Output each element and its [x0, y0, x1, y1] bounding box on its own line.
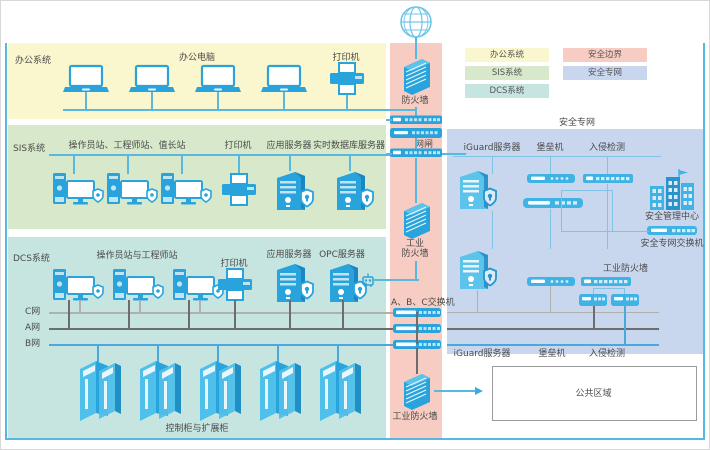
industrial-firewall-lower-icon: [400, 372, 434, 410]
office-to-gateway-link: [386, 119, 392, 121]
dcs-cabinet-1: [77, 357, 123, 421]
private-ifw-bracket-l: [593, 288, 594, 294]
left-edge-rail: [5, 43, 7, 438]
private-ids-bottom-icon: [581, 276, 631, 287]
industrial-firewall-upper-label: 工业 防火墙: [401, 239, 428, 260]
sis-printer-icon: [219, 174, 259, 206]
private-top-rail: [453, 156, 661, 157]
dcs-ws2-drop-a: [128, 300, 130, 329]
private-bastion-label-bottom: 堡垒机: [538, 349, 565, 359]
dcs-ws1-drop-a: [68, 300, 70, 329]
office-printer-icon: [326, 63, 368, 95]
private-bastion-top-secondary-icon: [523, 197, 583, 209]
dcs-workstation-3: [173, 269, 221, 303]
private-net-switch-icon: [647, 225, 697, 236]
sis-workstation-2: [107, 173, 155, 207]
dcs-bus-label-b: B网: [25, 339, 40, 349]
office-bus-line: [63, 109, 415, 111]
dcs-cabinet-5: [317, 357, 363, 421]
public-arrow-icon: [475, 386, 485, 396]
smc-horizontal-connector: [561, 190, 613, 191]
bottom-edge-rail: [5, 438, 705, 440]
private-ifw2-drop: [624, 306, 626, 345]
private-ifw-bracket-r: [624, 288, 625, 294]
dcs-printer-label: 打印机: [220, 259, 247, 269]
office-printer-drop: [346, 93, 348, 110]
sis-drop-2: [127, 154, 129, 174]
dcs-cabinets-label: 控制柜与扩展柜: [165, 424, 228, 434]
sis-rtdb-server-label: 实时数据库服务器: [313, 141, 385, 151]
globe-icon: [398, 5, 434, 41]
firewall-label: 防火墙: [401, 96, 428, 106]
sis-workstation-3: [161, 173, 209, 207]
office-drop-3: [217, 91, 219, 110]
smc-vertical-to-building: [612, 190, 613, 232]
ifw-upper-down-link: [415, 261, 417, 280]
dcs-app-drop: [289, 300, 291, 329]
private-rail-a: [447, 328, 659, 330]
private-iguard-label-top: iGuard服务器: [464, 143, 521, 153]
dcs-workstation-1: [53, 269, 101, 303]
dcs-bus-label-c: C网: [25, 307, 40, 317]
office-printer-label: 打印机: [332, 53, 359, 63]
dcs-stations-label: 操作员站与工程师站: [96, 251, 177, 261]
dcs-section-label: DCS系统: [13, 251, 50, 264]
private-bastion-top-icon: [527, 173, 575, 184]
opc-gateway-link: [374, 279, 419, 281]
private-iguard-server-top-icon: [456, 169, 498, 213]
legend-label-boundary: 安全边界: [563, 48, 647, 62]
sis-stations-label: 操作员站、工程师站、值长站: [68, 141, 185, 151]
ifw-lower-to-public-link: [434, 390, 479, 392]
public-area-label: 公共区域: [492, 386, 695, 399]
sis-drop-printer: [238, 154, 240, 174]
dcs-opc-server-label: OPC服务器: [319, 250, 365, 260]
ifw-upper-line1: 工业: [401, 239, 428, 249]
sis-drop-3: [181, 154, 183, 174]
sis-printer-label: 打印机: [224, 141, 251, 151]
private-rail-c: [447, 312, 659, 313]
gateway-switch-upper-icon: [390, 115, 442, 125]
dcs-cabinet-3: [197, 357, 243, 421]
switch-stack-link: [416, 312, 418, 344]
private-ifw-module-1-icon: [579, 293, 607, 307]
dcs-bus-line-a: [49, 328, 424, 330]
private-net-switch-label: 安全专网交换机: [640, 239, 703, 249]
private-ids-label-bottom: 入侵检测: [589, 349, 625, 359]
sis-rtdb-server-icon: [333, 170, 375, 214]
private-ids-vert-mid: [607, 184, 608, 249]
dcs-workstation-2: [113, 269, 161, 303]
dcs-ws2-drop-c: [139, 300, 141, 313]
dcs-ws3-drop-c: [199, 300, 201, 313]
office-laptop-2: [129, 65, 175, 93]
sis-workstation-1: [53, 173, 101, 207]
sis-bus-line: [49, 154, 415, 156]
dcs-bus-line-c: [49, 312, 424, 314]
dcs-bus-line-b: [49, 344, 424, 346]
dcs-cabinet-4: [257, 357, 303, 421]
industrial-firewall-upper-icon: [400, 201, 434, 239]
sis-app-server-icon: [273, 170, 315, 214]
private-bastion-label-top: 堡垒机: [536, 143, 563, 153]
dcs-cabinet-2: [137, 357, 183, 421]
dcs-bus-label-a: A网: [25, 323, 40, 333]
office-computers-label: 办公电脑: [179, 53, 215, 63]
opc-gateway-device-icon: [361, 273, 375, 287]
ifw-upper-line2: 防火墙: [401, 249, 428, 259]
smc-left-connector: [561, 190, 562, 232]
gateway-to-ifw-link: [415, 158, 417, 203]
office-laptop-1: [63, 65, 109, 93]
dcs-ws1-drop-c: [79, 300, 81, 313]
private-iguard-bottom-drop: [477, 290, 478, 313]
sis-drop-1: [73, 154, 75, 174]
private-ifw-module-2-icon: [611, 293, 639, 307]
office-section-label: 办公系统: [15, 53, 51, 66]
legend-label-sis: SIS系统: [465, 66, 549, 80]
private-industrial-firewall-label: 工业防火墙: [603, 264, 648, 274]
switch-to-ifw-lower-link: [416, 348, 418, 374]
smc-switch-rail: [561, 231, 649, 232]
office-drop-4: [283, 91, 285, 110]
dcs-opc-drop: [342, 300, 344, 329]
sis-section-label: SIS系统: [13, 141, 45, 154]
firewall-icon: [400, 57, 434, 95]
private-rail-b: [447, 344, 659, 346]
private-bastion-vert-mid: [550, 209, 551, 249]
private-ifw-bracket-h: [593, 288, 625, 289]
legend-label-dcs: DCS系统: [465, 84, 549, 98]
sis-drop-rtdb: [349, 154, 351, 171]
dcs-printer-drop: [234, 300, 236, 329]
legend-label-private: 安全专网: [563, 66, 647, 80]
private-iguard-server-bottom-icon: [456, 249, 498, 293]
private-iguard-label-bottom: iGuard服务器: [454, 349, 511, 359]
office-drop-2: [151, 91, 153, 110]
office-laptop-4: [261, 65, 307, 93]
security-management-center-label: 安全管理中心: [645, 212, 699, 222]
private-bastion-bottom-drop: [550, 286, 551, 313]
dcs-ws3-drop-a: [188, 300, 190, 329]
network-architecture-diagram: 办公系统 SIS系统 DCS系统 安全边界 安全专网 办公系统 办公电脑 打印机: [0, 0, 710, 450]
office-laptop-3: [195, 65, 241, 93]
office-drop-1: [85, 91, 87, 110]
gateway-to-private-link: [442, 153, 466, 155]
security-management-center-icon: [648, 169, 696, 211]
globe-to-firewall-link: [415, 37, 417, 59]
private-ids-top-icon: [583, 173, 633, 184]
sis-drop-app: [289, 154, 291, 171]
legend-label-office: 办公系统: [465, 48, 549, 62]
gateway-switch-lower-icon: [390, 148, 442, 158]
private-iguard-vert-mid: [492, 211, 493, 249]
sis-app-server-label: 应用服务器: [266, 141, 311, 151]
private-ids-label-top: 入侵检测: [589, 143, 625, 153]
dcs-app-server-icon: [273, 262, 315, 306]
industrial-firewall-lower-label: 工业防火墙: [392, 412, 437, 422]
private-ifw1-drop: [593, 306, 595, 329]
dcs-app-server-label: 应用服务器: [266, 250, 311, 260]
private-net-title: 安全专网: [559, 115, 595, 128]
sis-to-gateway-link: [386, 153, 392, 155]
dcs-printer-icon: [215, 269, 255, 301]
